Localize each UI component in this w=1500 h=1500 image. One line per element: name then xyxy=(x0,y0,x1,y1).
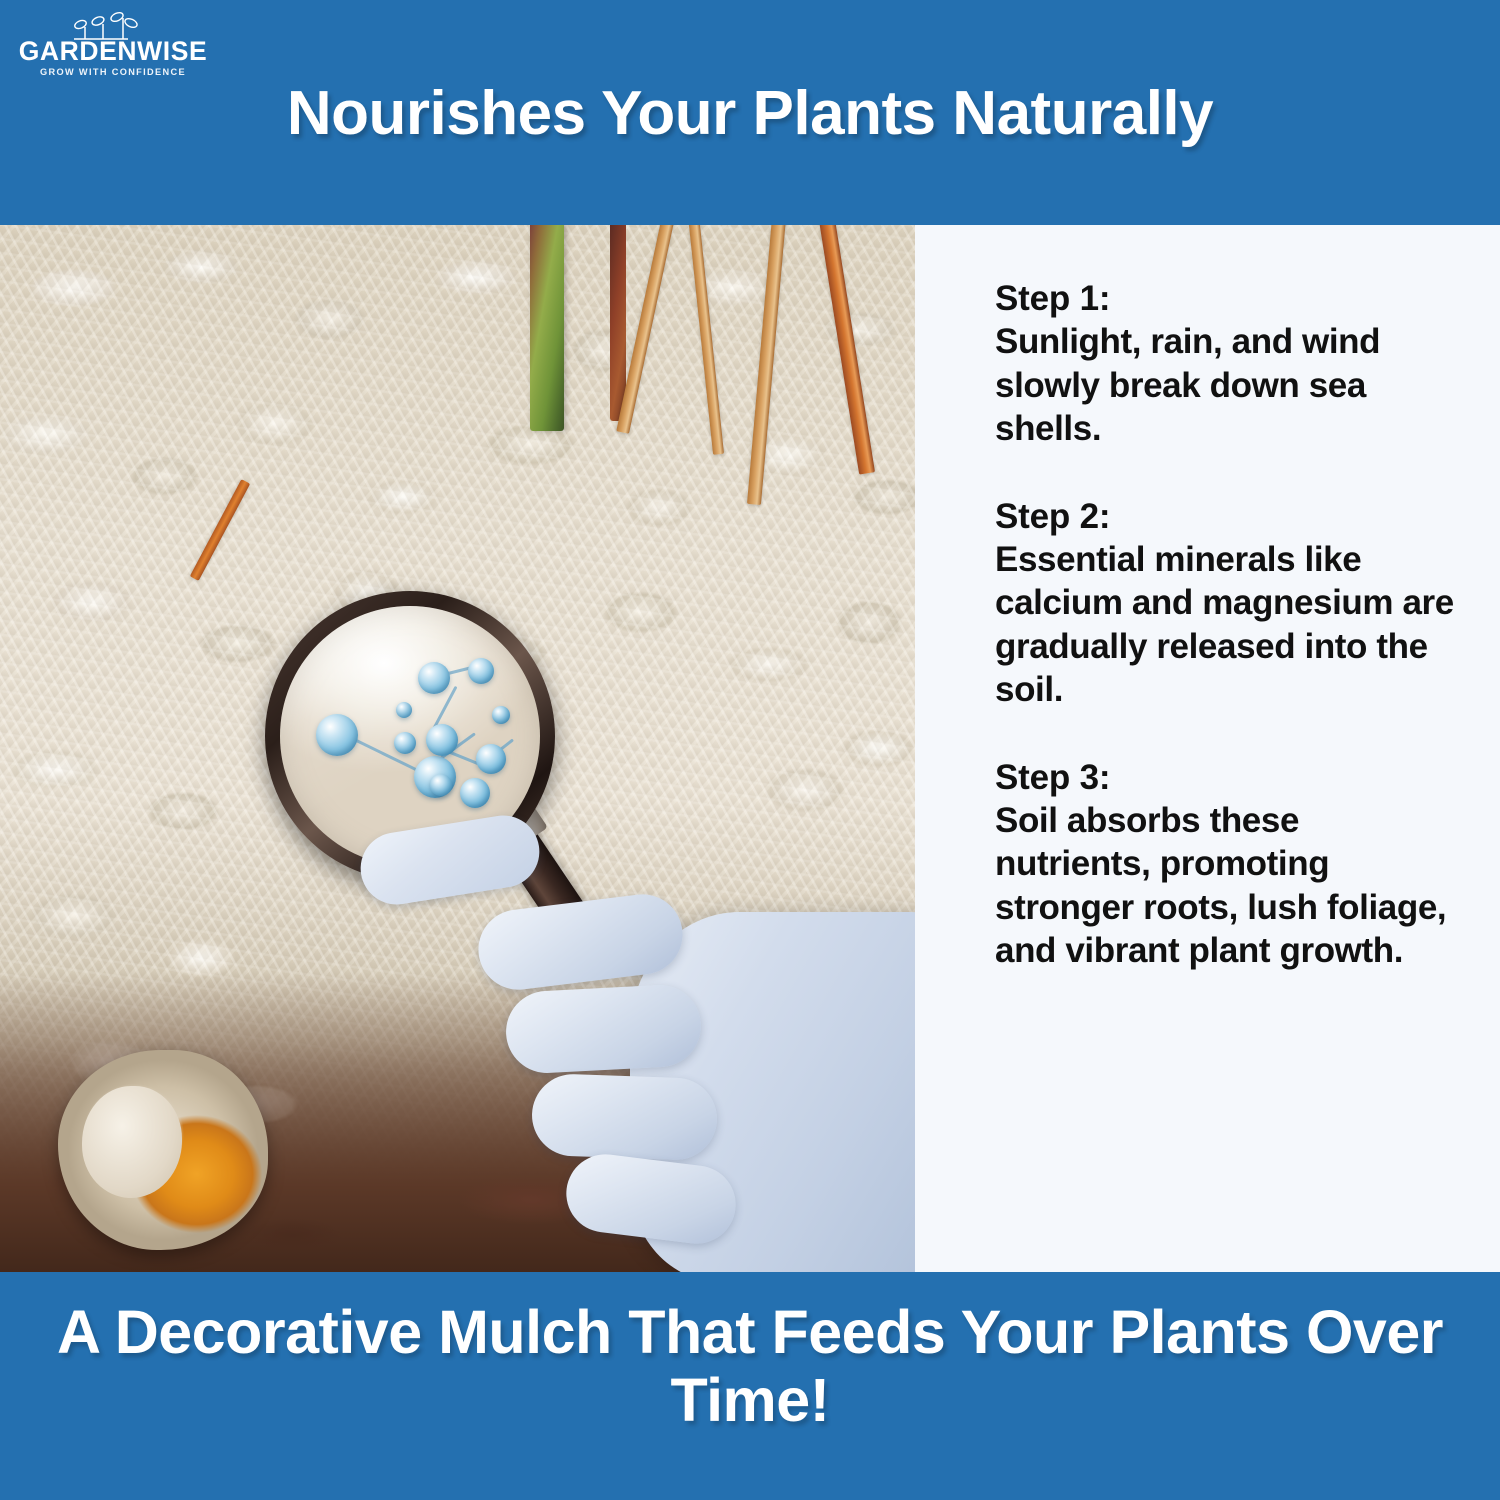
page-title: Nourishes Your Plants Naturally xyxy=(0,78,1500,149)
steps-panel: Step 1: Sunlight, rain, and wind slowly … xyxy=(915,225,1500,1272)
orange-crusted-oyster-shell xyxy=(58,1050,268,1250)
green-plant-stem xyxy=(530,225,564,431)
footer-banner: A Decorative Mulch That Feeds Your Plant… xyxy=(0,1272,1500,1500)
oyster-shell-interior xyxy=(82,1086,182,1198)
step-description: Essential minerals like calcium and magn… xyxy=(995,538,1460,712)
infographic-page: GARDENWISE GROW WITH CONFIDENCE Nourishe… xyxy=(0,0,1500,1500)
product-photo xyxy=(0,225,915,1272)
brand-logo: GARDENWISE GROW WITH CONFIDENCE xyxy=(18,8,208,80)
step-item: Step 3: Soil absorbs these nutrients, pr… xyxy=(995,756,1460,973)
brand-tagline: GROW WITH CONFIDENCE xyxy=(18,68,208,77)
glove-finger xyxy=(531,1073,719,1161)
step-item: Step 2: Essential minerals like calcium … xyxy=(995,495,1460,712)
main-content: Step 1: Sunlight, rain, and wind slowly … xyxy=(0,225,1500,1272)
glove-finger xyxy=(504,983,703,1075)
step-description: Sunlight, rain, and wind slowly break do… xyxy=(995,320,1460,450)
blue-nitrile-glove xyxy=(470,872,915,1272)
step-label: Step 2: xyxy=(995,495,1460,538)
header-banner: GARDENWISE GROW WITH CONFIDENCE Nourishe… xyxy=(0,0,1500,225)
step-description: Soil absorbs these nutrients, promoting … xyxy=(995,799,1460,973)
footer-tagline: A Decorative Mulch That Feeds Your Plant… xyxy=(0,1298,1500,1435)
step-item: Step 1: Sunlight, rain, and wind slowly … xyxy=(995,277,1460,451)
brand-name: GARDENWISE xyxy=(18,38,208,65)
step-label: Step 1: xyxy=(995,277,1460,320)
step-label: Step 3: xyxy=(995,756,1460,799)
